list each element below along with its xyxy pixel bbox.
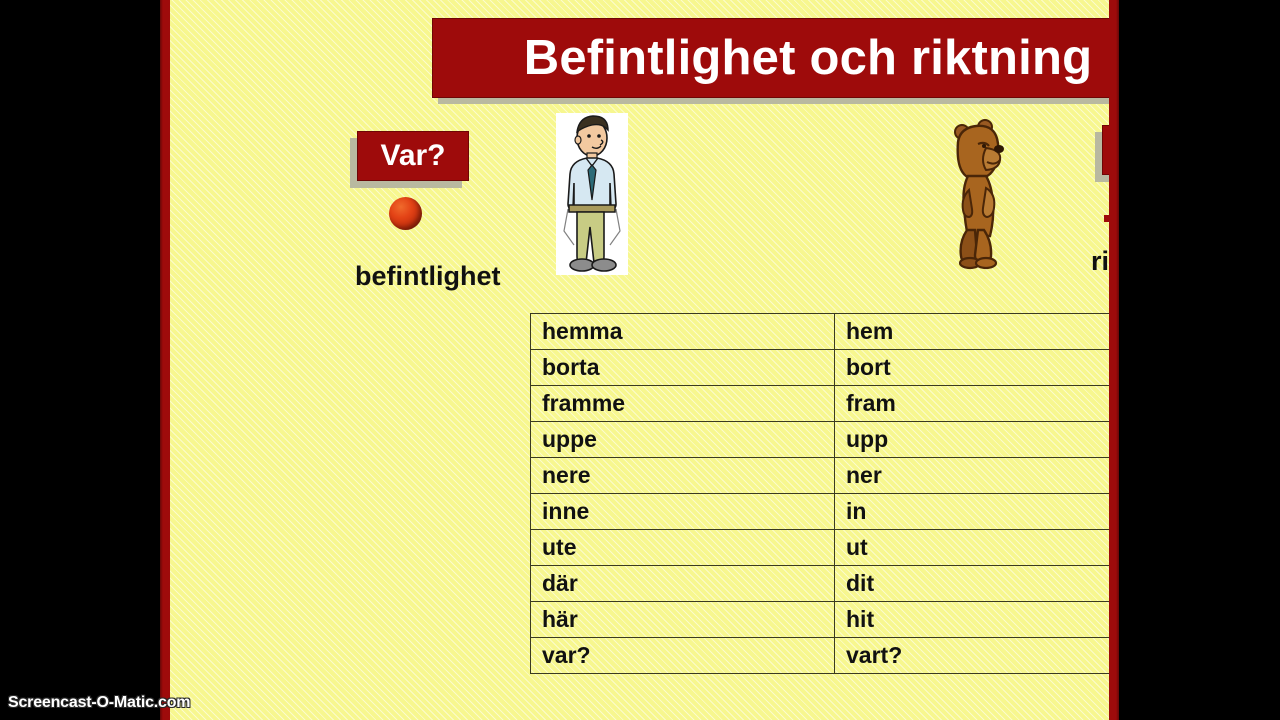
- cell-riktning: bort: [835, 350, 1110, 386]
- vart-question-label: Vart?: [1102, 125, 1109, 175]
- table-row: ute ut: [531, 530, 1110, 566]
- word-pairs-body: hemma hem borta bort framme fram uppe up…: [531, 314, 1110, 674]
- var-label-text: Var?: [380, 141, 445, 171]
- table-row: där dit: [531, 566, 1110, 602]
- table-row: här hit: [531, 602, 1110, 638]
- table-row: framme fram: [531, 386, 1110, 422]
- right-arrow-svg: [1104, 205, 1109, 233]
- presentation-slide: Befintlighet och riktning Var? Vart?: [170, 0, 1109, 720]
- table-row: borta bort: [531, 350, 1110, 386]
- cell-riktning: ut: [835, 530, 1110, 566]
- cell-riktning: dit: [835, 566, 1110, 602]
- cell-riktning: in: [835, 494, 1110, 530]
- screencast-watermark: Screencast-O-Matic.com: [8, 694, 190, 712]
- walking-bear-icon: [942, 118, 1020, 270]
- video-letterbox-frame: Befintlighet och riktning Var? Vart?: [0, 0, 1280, 720]
- cell-riktning: ner: [835, 458, 1110, 494]
- table-row: uppe upp: [531, 422, 1110, 458]
- cell-befintlighet: var?: [531, 638, 835, 674]
- title-banner: Befintlighet och riktning: [432, 18, 1109, 98]
- cell-befintlighet: nere: [531, 458, 835, 494]
- cell-befintlighet: borta: [531, 350, 835, 386]
- standing-man-svg: [556, 113, 628, 275]
- table-row: var? vart?: [531, 638, 1110, 674]
- table-row: hemma hem: [531, 314, 1110, 350]
- var-question-label: Var?: [357, 131, 469, 181]
- walking-bear-svg: [942, 118, 1020, 270]
- cell-befintlighet: framme: [531, 386, 835, 422]
- cell-befintlighet: där: [531, 566, 835, 602]
- cell-befintlighet: här: [531, 602, 835, 638]
- cell-riktning: upp: [835, 422, 1110, 458]
- var-label-box: Var?: [357, 131, 469, 181]
- cell-befintlighet: hemma: [531, 314, 835, 350]
- caption-befintlighet: befintlighet: [355, 263, 500, 290]
- cell-befintlighet: inne: [531, 494, 835, 530]
- standing-man-icon: [556, 113, 628, 275]
- table-row: inne in: [531, 494, 1110, 530]
- cell-riktning: hem: [835, 314, 1110, 350]
- cell-befintlighet: uppe: [531, 422, 835, 458]
- red-ball-icon: [389, 197, 422, 230]
- page-title: Befintlighet och riktning: [524, 34, 1092, 83]
- caption-riktning: riktning: [1091, 248, 1109, 275]
- right-arrow-icon: [1104, 205, 1109, 233]
- vart-label-box: Vart?: [1102, 125, 1109, 175]
- table-row: nere ner: [531, 458, 1110, 494]
- cell-riktning: vart?: [835, 638, 1110, 674]
- word-pairs-table: hemma hem borta bort framme fram uppe up…: [530, 313, 1109, 674]
- cell-riktning: hit: [835, 602, 1110, 638]
- cell-riktning: fram: [835, 386, 1110, 422]
- cell-befintlighet: ute: [531, 530, 835, 566]
